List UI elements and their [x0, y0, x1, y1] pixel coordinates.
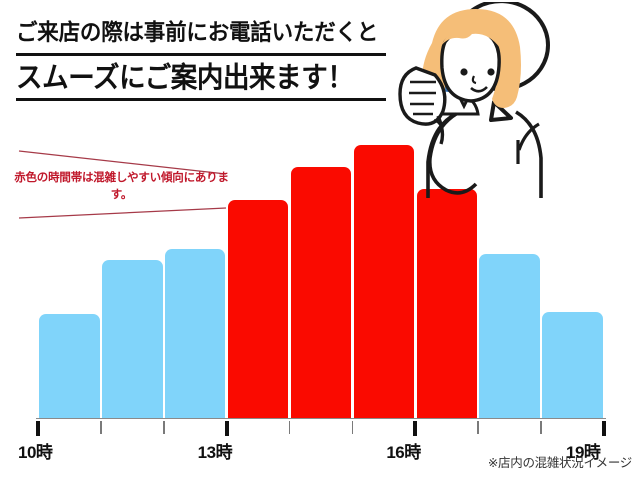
poster-canvas: ご来店の際は事前にお電話いただくと スムーズにご案内出来ます！ 赤色の時間帯は混…: [0, 0, 640, 480]
bar-18時: [542, 312, 602, 418]
bar-11時: [102, 260, 162, 418]
x-tick-major: [36, 421, 40, 436]
customer-eye-left: [460, 68, 467, 75]
bar-16時: [417, 189, 477, 418]
bar-13時: [228, 200, 288, 418]
x-axis-label: 13時: [198, 438, 232, 463]
x-tick-major: [225, 421, 229, 436]
x-tick-major: [413, 421, 417, 436]
x-tick-minor: [163, 421, 165, 434]
x-tick-minor: [477, 421, 479, 434]
x-axis-label: 16時: [386, 438, 420, 463]
x-tick-minor: [289, 421, 291, 434]
chart-footnote: ※店内の混雑状況イメージ: [488, 452, 632, 471]
bar-12時: [165, 249, 225, 418]
customer-arm: [430, 114, 476, 193]
bar-10時: [39, 314, 99, 418]
bar-14時: [291, 167, 351, 418]
x-tick-minor: [540, 421, 542, 434]
x-axis-label: 10時: [18, 438, 52, 463]
x-axis-line: [36, 418, 606, 419]
customer-eye-right: [487, 68, 494, 75]
phone-call-illustration: [398, 2, 640, 198]
x-tick-minor: [352, 421, 354, 434]
x-tick-minor: [100, 421, 102, 434]
x-tick-major: [602, 421, 606, 436]
bar-17時: [479, 254, 539, 418]
customer-face: [442, 29, 499, 101]
